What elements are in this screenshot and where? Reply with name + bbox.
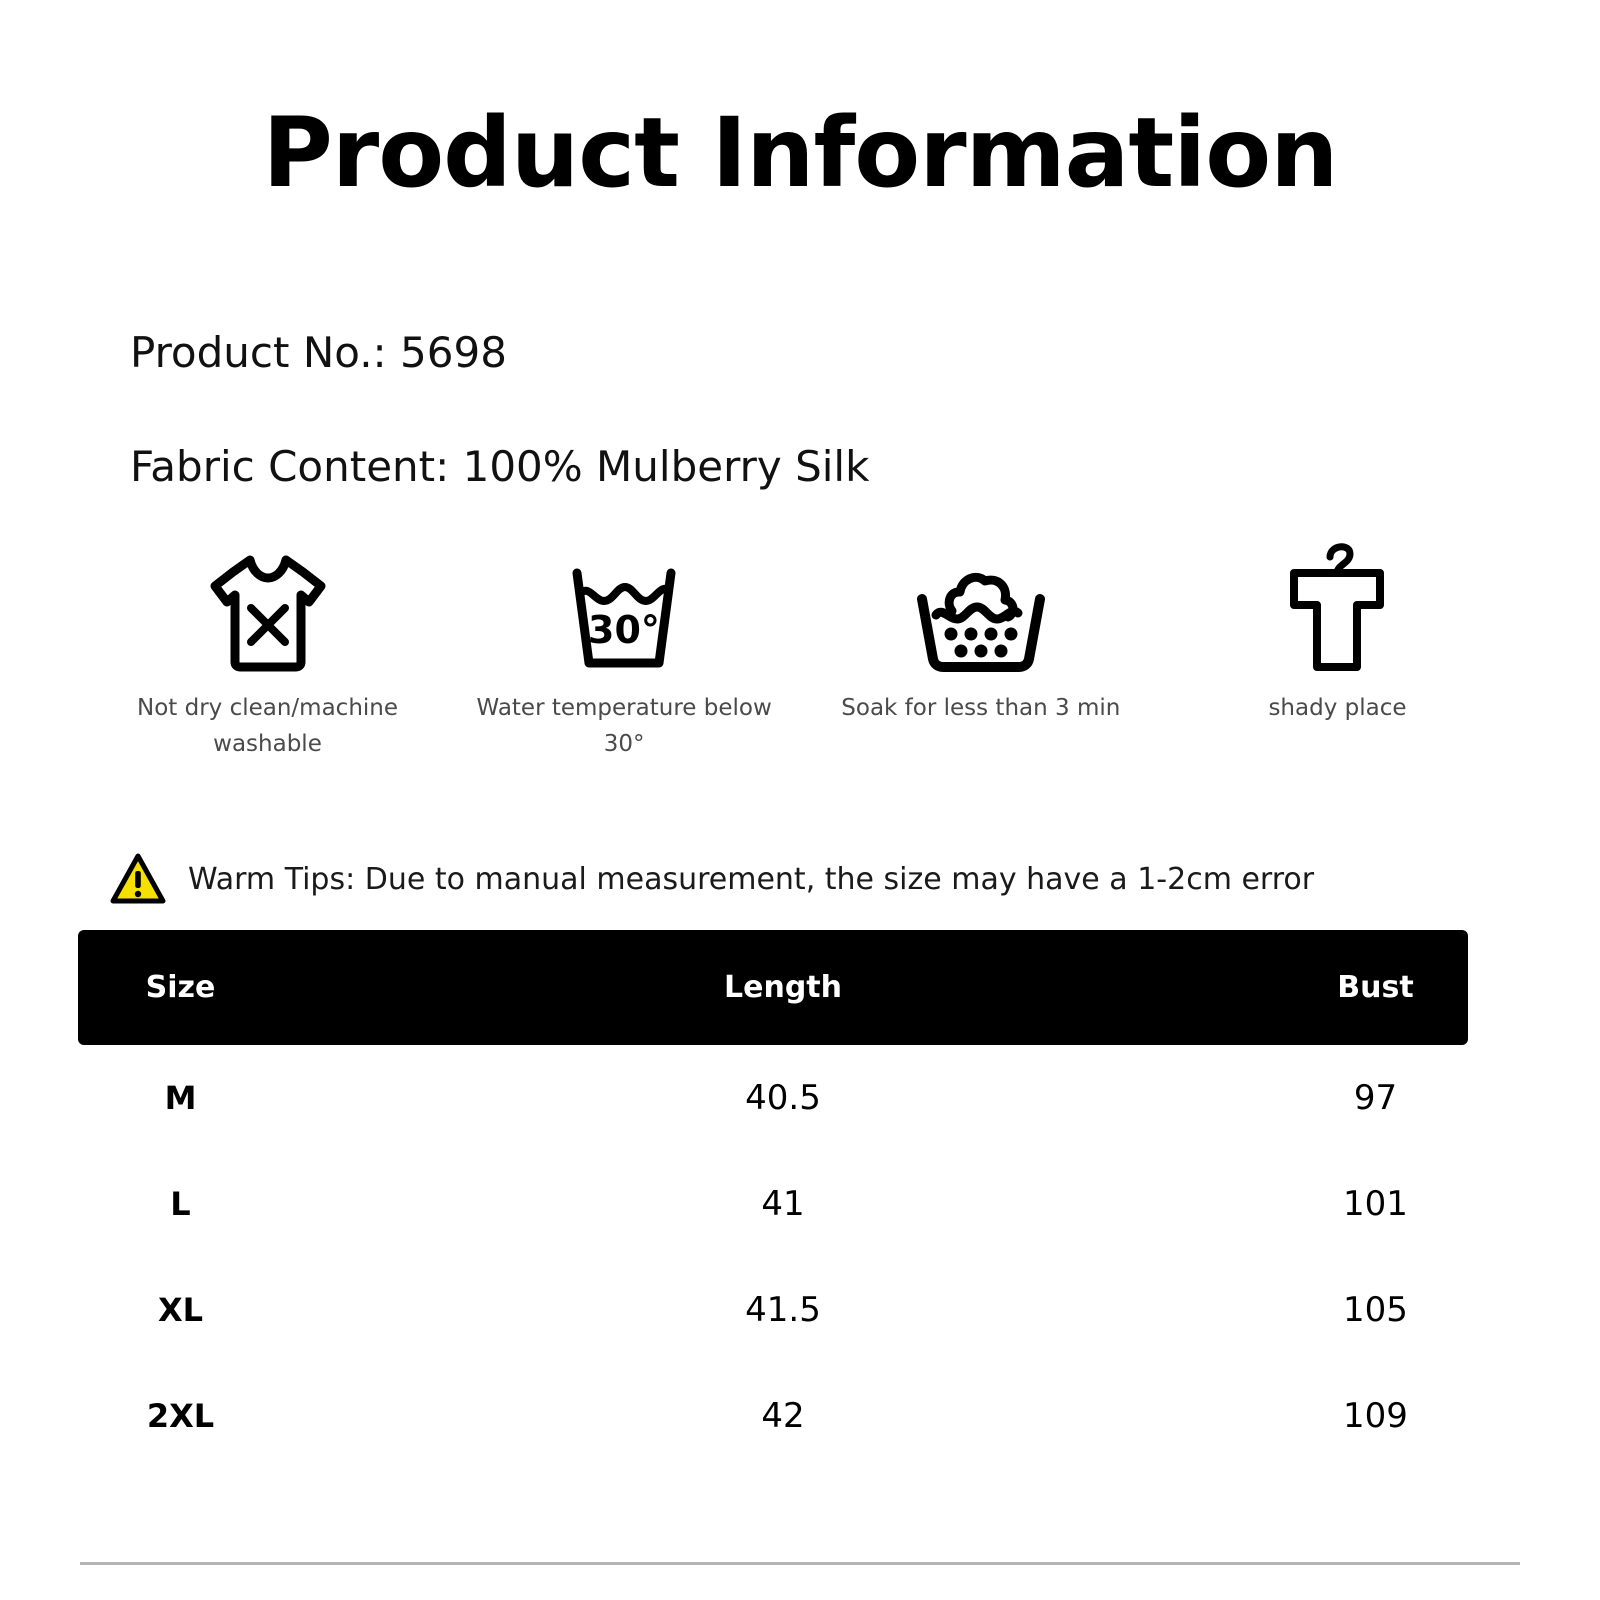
cell-size: 2XL xyxy=(78,1397,283,1435)
cell-bust: 97 xyxy=(1283,1078,1468,1118)
soak-basin-icon xyxy=(906,540,1056,675)
size-table: Size Length Bust M 40.5 97 L 41 101 XL 4… xyxy=(78,930,1468,1469)
table-row: L 41 101 xyxy=(78,1151,1468,1257)
care-item-shady-place: shady place xyxy=(1165,540,1510,727)
column-header-bust: Bust xyxy=(1283,970,1468,1005)
cell-bust: 105 xyxy=(1283,1290,1468,1330)
warm-tips-text: Warm Tips: Due to manual measurement, th… xyxy=(188,862,1314,897)
cell-length: 42 xyxy=(283,1396,1283,1436)
product-number-line: Product No.: 5698 xyxy=(130,328,507,377)
table-row: M 40.5 97 xyxy=(78,1045,1468,1151)
column-header-length: Length xyxy=(283,970,1283,1005)
care-instruction-row: Not dry clean/machine washable 30° Water… xyxy=(95,540,1510,762)
table-row: 2XL 42 109 xyxy=(78,1363,1468,1469)
warning-triangle-icon xyxy=(110,852,166,906)
hanger-shirt-icon xyxy=(1272,540,1402,675)
cell-length: 40.5 xyxy=(283,1078,1283,1118)
wash-temperature-text: 30° xyxy=(588,608,660,652)
cell-size: M xyxy=(78,1079,283,1117)
care-label: Soak for less than 3 min xyxy=(841,691,1120,727)
cell-bust: 101 xyxy=(1283,1184,1468,1224)
cell-size: XL xyxy=(78,1291,283,1329)
tshirt-no-wash-icon xyxy=(203,540,333,675)
size-table-header-row: Size Length Bust xyxy=(78,930,1468,1045)
care-item-soak-time: Soak for less than 3 min xyxy=(808,540,1153,727)
wash-tub-30-degrees-icon: 30° xyxy=(559,540,689,675)
care-label: shady place xyxy=(1268,691,1406,727)
fabric-content-line: Fabric Content: 100% Mulberry Silk xyxy=(130,442,869,491)
page-title: Product Information xyxy=(0,96,1600,211)
care-item-no-dry-clean: Not dry clean/machine washable xyxy=(95,540,440,762)
cell-length: 41.5 xyxy=(283,1290,1283,1330)
table-row: XL 41.5 105 xyxy=(78,1257,1468,1363)
warm-tips-row: Warm Tips: Due to manual measurement, th… xyxy=(110,852,1314,906)
care-label: Water temperature below 30° xyxy=(474,691,774,762)
cell-bust: 109 xyxy=(1283,1396,1468,1436)
column-header-size: Size xyxy=(78,970,283,1005)
care-item-water-temperature: 30° Water temperature below 30° xyxy=(452,540,797,762)
cell-size: L xyxy=(78,1185,283,1223)
care-label: Not dry clean/machine washable xyxy=(118,691,418,762)
cell-length: 41 xyxy=(283,1184,1283,1224)
product-information-page: Product Information Product No.: 5698 Fa… xyxy=(0,0,1600,1600)
bottom-divider xyxy=(80,1562,1520,1565)
